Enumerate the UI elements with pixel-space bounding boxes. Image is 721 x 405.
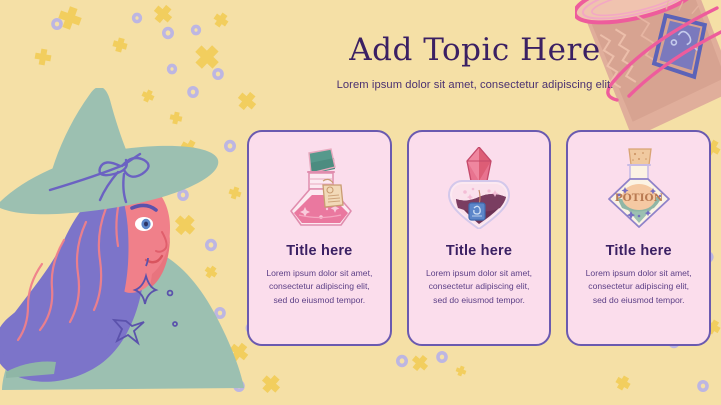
diamond-bottle-potion-icon: POTION bbox=[603, 147, 675, 229]
topic-card-3[interactable]: POTION Title here Lorem ipsum dolor sit … bbox=[566, 130, 711, 346]
heart-bottle-potion-icon bbox=[443, 147, 515, 229]
slide-canvas: Add Topic Here Lorem ipsum dolor sit ame… bbox=[0, 0, 721, 405]
card-title: Title here bbox=[286, 243, 352, 259]
card-body: Lorem ipsum dolor sit amet, consectetur … bbox=[579, 267, 698, 307]
page-title: Add Topic Here bbox=[240, 34, 710, 67]
card-body: Lorem ipsum dolor sit amet, consectetur … bbox=[260, 267, 379, 307]
card-body: Lorem ipsum dolor sit amet, consectetur … bbox=[420, 267, 539, 307]
topic-card-2[interactable]: Title here Lorem ipsum dolor sit amet, c… bbox=[407, 130, 552, 346]
header: Add Topic Here Lorem ipsum dolor sit ame… bbox=[240, 34, 710, 91]
witch-illustration bbox=[0, 88, 246, 405]
card-title: Title here bbox=[446, 243, 512, 259]
potion-label-text: POTION bbox=[614, 192, 663, 204]
page-subtitle: Lorem ipsum dolor sit amet, consectetur … bbox=[240, 79, 710, 91]
card-title: Title here bbox=[606, 243, 672, 259]
cards-row: Title here Lorem ipsum dolor sit amet, c… bbox=[247, 130, 711, 346]
topic-card-1[interactable]: Title here Lorem ipsum dolor sit amet, c… bbox=[247, 130, 392, 346]
conical-flask-potion-icon bbox=[283, 147, 355, 229]
